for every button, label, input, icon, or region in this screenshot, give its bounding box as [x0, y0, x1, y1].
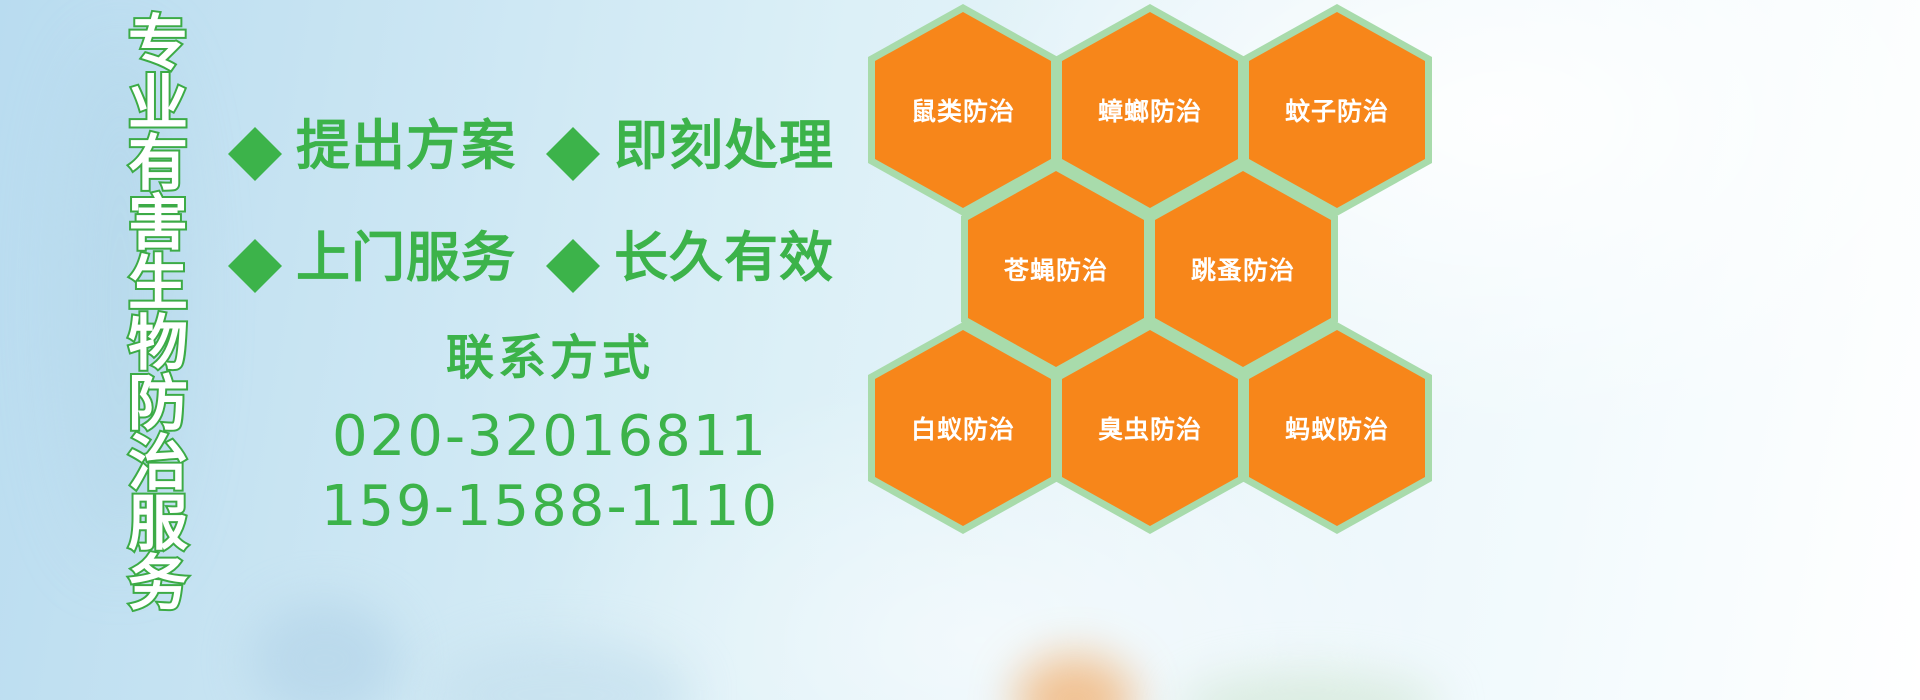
diamond-icon: [228, 100, 282, 154]
diamond-icon: [228, 212, 282, 266]
vertical-title-char: 害: [128, 194, 188, 254]
feature-item: 即刻处理: [546, 101, 834, 180]
feature-label: 长久有效: [614, 213, 834, 292]
vertical-title-char: 服: [128, 494, 188, 554]
vertical-title: 专 业 有 害 生 物 防 治 服 务: [112, 14, 204, 574]
contact-heading: 联系方式: [300, 318, 800, 388]
service-label: 蟑螂防治: [1098, 92, 1202, 128]
feature-row: 提出方案 即刻处理: [228, 84, 868, 196]
service-hexagon-cluster: 鼠类防治 蟑螂防治 蚊子防治 苍蝇防治 跳蚤防治 白蚁防治: [860, 0, 1480, 560]
contact-block: 联系方式 020-32016811 159-1588-1110: [300, 318, 800, 542]
service-label: 白蚁防治: [911, 410, 1015, 446]
vertical-title-char: 务: [128, 554, 188, 614]
hexagon-inner: 蚂蚁防治: [1249, 330, 1425, 526]
vertical-title-char: 生: [128, 254, 188, 314]
background-blob: [430, 640, 690, 700]
feature-item: 长久有效: [546, 213, 834, 292]
hexagon-inner: 蟑螂防治: [1062, 12, 1238, 208]
hexagon-inner: 臭虫防治: [1062, 330, 1238, 526]
phone-number-mobile[interactable]: 159-1588-1110: [300, 472, 800, 542]
diamond-icon: [546, 212, 600, 266]
background-blob: [250, 600, 400, 700]
service-label: 蚊子防治: [1285, 92, 1389, 128]
background-blob: [1180, 672, 1440, 700]
pest-control-banner: 专 业 有 害 生 物 防 治 服 务 提出方案 即刻处理 上门服务: [0, 0, 1920, 700]
feature-row: 上门服务 长久有效: [228, 196, 868, 308]
feature-item: 上门服务: [228, 213, 516, 292]
hexagon-inner: 苍蝇防治: [968, 171, 1144, 367]
service-label: 蚂蚁防治: [1285, 410, 1389, 446]
feature-list: 提出方案 即刻处理 上门服务 长久有效: [228, 84, 868, 308]
vertical-title-char: 治: [128, 434, 188, 494]
background-blob: [1015, 655, 1135, 700]
hexagon-inner: 白蚁防治: [875, 330, 1051, 526]
service-label: 跳蚤防治: [1191, 251, 1295, 287]
service-label: 鼠类防治: [911, 92, 1015, 128]
diamond-icon: [546, 100, 600, 154]
feature-label: 上门服务: [296, 213, 516, 292]
feature-label: 即刻处理: [614, 101, 834, 180]
feature-item: 提出方案: [228, 101, 516, 180]
vertical-title-char: 有: [128, 134, 188, 194]
feature-label: 提出方案: [296, 101, 516, 180]
vertical-title-char: 物: [128, 314, 188, 374]
hexagon-inner: 鼠类防治: [875, 12, 1051, 208]
hexagon-inner: 蚊子防治: [1249, 12, 1425, 208]
service-label: 臭虫防治: [1098, 410, 1202, 446]
vertical-title-char: 专: [128, 14, 188, 74]
service-label: 苍蝇防治: [1004, 251, 1108, 287]
vertical-title-char: 防: [128, 374, 188, 434]
phone-number-landline[interactable]: 020-32016811: [300, 402, 800, 472]
vertical-title-char: 业: [128, 74, 188, 134]
hexagon-inner: 跳蚤防治: [1155, 171, 1331, 367]
